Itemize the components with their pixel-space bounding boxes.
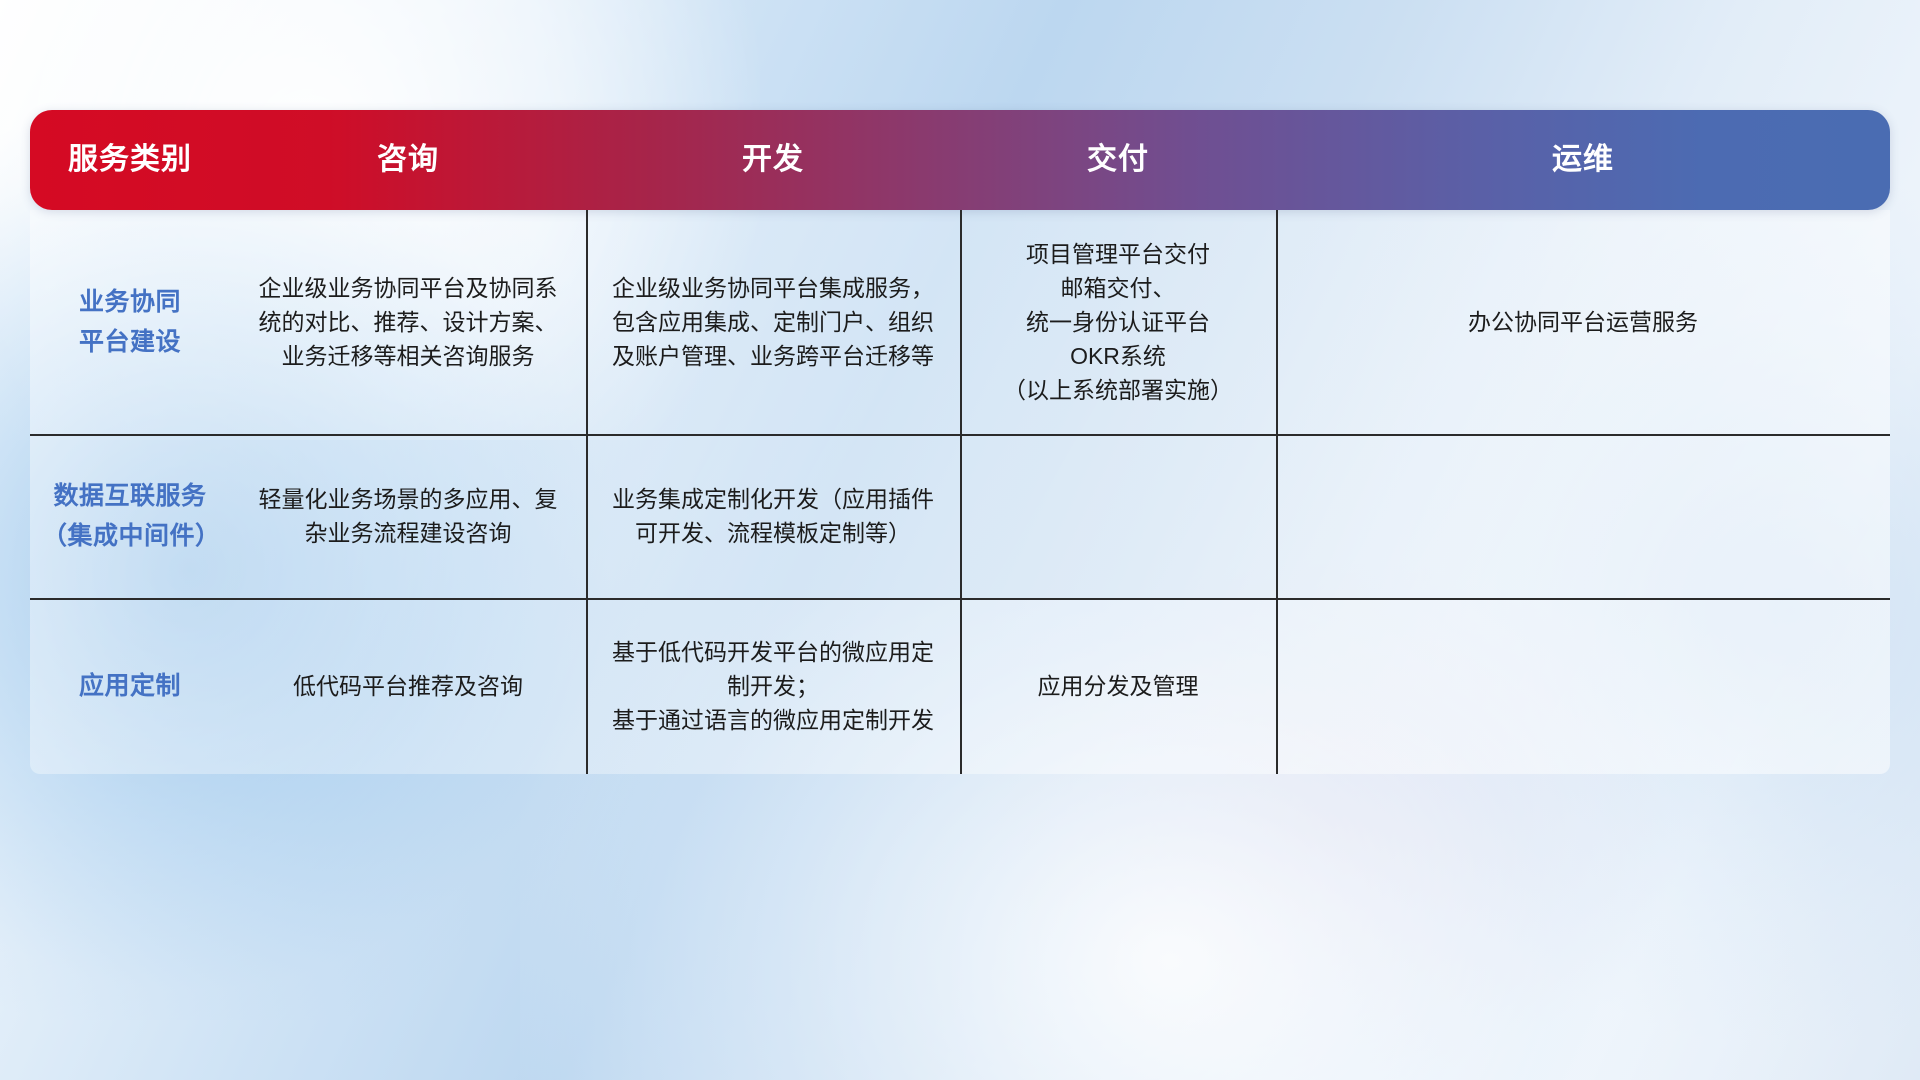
table-cell-delivery xyxy=(960,434,1276,598)
table-header-cell-development: 开发 xyxy=(586,110,960,210)
service-category-table: 服务类别 咨询 开发 交付 运维 业务协同 平台建设 企业级业务协同平台及协同系… xyxy=(30,110,1890,774)
table-cell-category: 应用定制 xyxy=(30,598,230,774)
table-cell-development: 基于低代码开发平台的微应用定 制开发； 基于通过语言的微应用定制开发 xyxy=(586,598,960,774)
grid-vline-1 xyxy=(586,210,588,774)
table-cell-consulting: 低代码平台推荐及咨询 xyxy=(230,598,586,774)
grid-hline-2 xyxy=(30,598,1890,600)
table-header-row: 服务类别 咨询 开发 交付 运维 xyxy=(30,110,1890,210)
table-cell-development: 业务集成定制化开发（应用插件 可开发、流程模板定制等） xyxy=(586,434,960,598)
table-cell-consulting: 轻量化业务场景的多应用、复 杂业务流程建设咨询 xyxy=(230,434,586,598)
table-cell-operations xyxy=(1276,434,1890,598)
grid-hline-1 xyxy=(30,434,1890,436)
table-cell-delivery: 应用分发及管理 xyxy=(960,598,1276,774)
table-cell-development: 企业级业务协同平台集成服务， 包含应用集成、定制门户、组织 及账户管理、业务跨平… xyxy=(586,210,960,434)
table-header-cell-category: 服务类别 xyxy=(30,110,230,210)
table-cell-operations xyxy=(1276,598,1890,774)
table-cell-category: 数据互联服务 （集成中间件） xyxy=(30,434,230,598)
table-cell-delivery: 项目管理平台交付 邮箱交付、 统一身份认证平台 OKR系统 （以上系统部署实施） xyxy=(960,210,1276,434)
table-cell-category: 业务协同 平台建设 xyxy=(30,210,230,434)
table-cell-operations: 办公协同平台运营服务 xyxy=(1276,210,1890,434)
table-header-cell-operations: 运维 xyxy=(1276,110,1890,210)
table-cell-consulting: 企业级业务协同平台及协同系 统的对比、推荐、设计方案、 业务迁移等相关咨询服务 xyxy=(230,210,586,434)
grid-vline-3 xyxy=(1276,210,1278,774)
table-header-cell-consulting: 咨询 xyxy=(230,110,586,210)
grid-vline-2 xyxy=(960,210,962,774)
table-header-cell-delivery: 交付 xyxy=(960,110,1276,210)
